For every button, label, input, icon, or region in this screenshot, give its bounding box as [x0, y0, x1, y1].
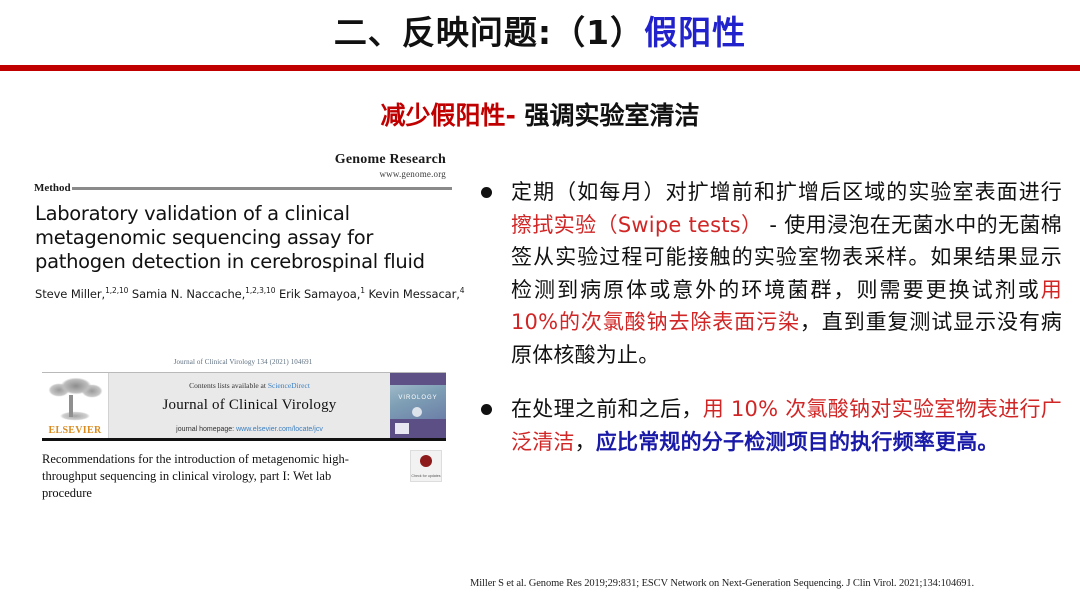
subtitle-black-part: 强调实验室清洁	[516, 101, 700, 130]
slide-root: 二、反映问题:（1）假阳性 减少假阳性- 强调实验室清洁 Genome Rese…	[0, 0, 1080, 608]
bullet-dot-icon	[481, 404, 492, 415]
genome-research-section-label: Method	[34, 182, 71, 194]
page-title-main: 二、反映问题:（1）	[334, 13, 644, 52]
list-item: 在处理之前和之后，用 10% 次氯酸钠对实验室物表进行广泛清洁，应比常规的分子检…	[470, 393, 1062, 458]
title-divider	[0, 65, 1080, 71]
elsevier-tree-icon	[46, 376, 104, 422]
bullet-list: 定期（如每月）对扩增前和扩增后区域的实验室表面进行擦拭实验（Swipe test…	[470, 176, 1062, 480]
jcv-masthead: ELSEVIER Contents lists available at Sci…	[42, 372, 446, 439]
paper-snapshots-column: Genome Research www.genome.org Method La…	[34, 150, 452, 493]
list-item: 定期（如每月）对扩增前和扩增后区域的实验室表面进行擦拭实验（Swipe test…	[470, 176, 1062, 371]
section-subtitle: 减少假阳性- 强调实验室清洁	[0, 99, 1080, 133]
jcv-cover-dot-icon	[412, 407, 422, 417]
jcv-thick-rule	[42, 438, 446, 441]
elsevier-wordmark: ELSEVIER	[42, 425, 108, 436]
check-for-updates-icon: Check for updates	[410, 450, 442, 482]
jcv-contents-line: Contents lists available at ScienceDirec…	[109, 381, 390, 390]
subtitle-red-part: 减少假阳性-	[380, 101, 515, 130]
genome-research-article-title: Laboratory validation of a clinical meta…	[35, 202, 447, 274]
jcv-running-head: Journal of Clinical Virology 134 (2021) …	[34, 358, 452, 366]
jcv-journal-name: Journal of Clinical Virology	[109, 397, 390, 414]
jcv-cover-flag-icon	[395, 423, 409, 434]
paper-journal-clinical-virology: Journal of Clinical Virology 134 (2021) …	[34, 358, 452, 493]
check-badge-label: Check for updates	[411, 474, 441, 478]
jcv-homepage-line: journal homepage: www.elsevier.com/locat…	[109, 426, 390, 433]
jcv-cover-wordmark: VIROLOGY	[390, 395, 446, 401]
jcv-contents-prefix: Contents lists available at	[189, 381, 268, 390]
citation-footnote: Miller S et al. Genome Res 2019;29:831; …	[470, 578, 1070, 589]
check-badge-circle-icon	[420, 455, 432, 467]
genome-research-masthead: Genome Research www.genome.org	[335, 152, 446, 179]
elsevier-trunk-icon	[69, 395, 73, 417]
bullet-1-text: 定期（如每月）对扩增前和扩增后区域的实验室表面进行擦拭实验（Swipe test…	[511, 176, 1062, 371]
bullet-2-seg-2: ，	[575, 430, 596, 454]
bullet-2-seg-3: 应比常规的分子检测项目的执行频率更高。	[596, 430, 999, 454]
genome-research-section-row: Method	[34, 182, 452, 194]
sciencedirect-link[interactable]: ScienceDirect	[268, 381, 310, 390]
bullet-dot-icon	[481, 187, 492, 198]
genome-research-authors: Steve Miller,1,2,10 Samia N. Naccache,1,…	[35, 283, 451, 302]
jcv-masthead-center: Contents lists available at ScienceDirec…	[109, 373, 390, 439]
elsevier-logo: ELSEVIER	[42, 373, 109, 438]
bullet-2-text: 在处理之前和之后，用 10% 次氯酸钠对实验室物表进行广泛清洁，应比常规的分子检…	[511, 393, 1062, 458]
bullet-1-seg-1: 擦拭实验（Swipe tests）	[511, 213, 762, 237]
jcv-homepage-link[interactable]: www.elsevier.com/locate/jcv	[236, 426, 323, 433]
genome-research-journal-name: Genome Research	[335, 152, 446, 168]
jcv-cover-top-band	[390, 373, 446, 385]
page-title: 二、反映问题:（1）假阳性	[0, 10, 1080, 56]
bullet-1-seg-0: 定期（如每月）对扩增前和扩增后区域的实验室表面进行	[511, 180, 1062, 204]
jcv-article-title: Recommendations for the introduction of …	[42, 451, 382, 502]
jcv-homepage-prefix: journal homepage:	[176, 426, 236, 433]
page-title-highlight: 假阳性	[644, 13, 746, 52]
genome-research-section-rule	[72, 187, 452, 190]
bullet-2-seg-0: 在处理之前和之后，	[511, 397, 703, 421]
genome-research-url: www.genome.org	[335, 169, 446, 179]
paper-genome-research: Genome Research www.genome.org Method La…	[34, 150, 452, 328]
jcv-cover-thumbnail: VIROLOGY	[390, 373, 446, 438]
